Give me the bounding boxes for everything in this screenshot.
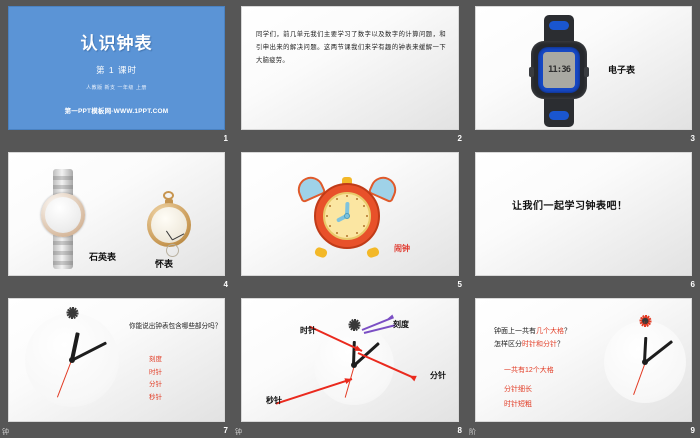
watch-case: 11:36 [531,41,587,99]
watch-button-right [584,67,589,77]
clock-tick-major [363,205,365,207]
band-link [53,176,73,180]
slide-number: 5 [458,280,462,290]
slide-number: 8 [458,426,462,436]
slide-cell-6[interactable]: 让我们一起学习钟表吧！ 6 [467,146,700,292]
slide-cell-2[interactable]: 同学们，前几单元我们主要学习了数字以及数字的计算问题，和引申出来的解决问题。这两… [233,0,467,146]
page-title: 认识钟表 [81,29,153,54]
slide-8[interactable]: 时针 刻度 分针 秒针 [241,298,459,422]
clock-tick-major [329,205,331,207]
minute-hand [166,231,173,241]
watch-band-bottom [53,233,73,269]
slide-cell-1[interactable]: 认识钟表 第 1 课时 人教版 新支 一年级 上册 第一PPT模板网-WWW.1… [0,0,233,146]
clock-hub [344,213,350,219]
slide-number: 9 [691,426,695,436]
q2-part-a: 怎样区分 [494,341,522,348]
subtitle: 第 1 课时 [96,64,137,76]
slide-cell-3[interactable]: 11:36 电子表 3 [467,0,700,146]
band-link [53,185,73,189]
band-link [53,261,73,265]
clock-foot-right [366,246,380,258]
watch-dial [151,207,187,243]
image-label-quartz: 石英表 [89,250,116,263]
alarm-clock-image [297,171,397,263]
slide-number: 4 [224,280,228,290]
clock-tick-major [26,313,73,314]
answer-item: 分针 [149,379,162,392]
clock-tick-major [346,195,348,197]
question-block: 钟面上一共有几个大格？ 怎样区分时针和分针？ [494,325,606,352]
image-label: 电子表 [608,63,635,76]
label-scale: 刻度 [393,319,409,330]
corner-mark: 钟 [235,429,242,437]
watch-dial [45,197,81,233]
q1-highlight: 几个大格 [536,328,564,335]
image-label: 闹钟 [394,243,410,254]
slide-cell-4[interactable]: 石英表 怀表 4 [0,146,233,292]
image-label-pocket: 怀表 [155,257,173,270]
analog-clock [25,313,119,407]
slide-number: 3 [691,134,695,144]
label-second-hand: 秒针 [266,395,282,406]
clock-tick-major [329,225,331,227]
label-hour-hand: 时针 [300,325,316,336]
q1-part-c: ？ [564,328,571,335]
watch-case [41,193,85,237]
slide-number: 2 [458,134,462,144]
answer-count: 一共有12个大格 [504,365,554,375]
hour-hand [172,233,184,240]
clock-body [314,183,380,249]
slide-4[interactable]: 石英表 怀表 [8,152,225,276]
clock-tick-major [366,215,368,217]
slide-thumbnail-grid: 认识钟表 第 1 课时 人教版 新支 一年级 上册 第一PPT模板网-WWW.1… [0,0,700,438]
slide-number: 6 [691,280,695,290]
clock-tick-major [336,232,338,234]
digital-watch-image: 11:36 [528,15,590,127]
clock-tick-major [356,232,358,234]
corner-mark: 钟 [2,429,9,437]
body-paragraph: 同学们，前几单元我们主要学习了数字以及数字的计算问题，和引申出来的解决问题。这两… [256,29,446,68]
slide-7[interactable]: 你能说出钟表包含哪些部分吗？ 刻度 时针 分针 秒针 [8,298,225,422]
answer-minute-hand: 分针细长 [504,384,532,394]
slide-cell-7[interactable]: 你能说出钟表包含哪些部分吗？ 刻度 时针 分针 秒针 7 钟 [0,292,233,438]
headline: 让我们一起学习钟表吧！ [512,197,628,212]
strap-accent [549,21,569,30]
watch-button-left [529,67,534,77]
slide-cell-5[interactable]: 闹钟 5 [233,146,467,292]
question-line-1: 钟面上一共有几个大格？ [494,325,606,338]
q2-highlight: 时针和分针 [522,341,557,348]
slide-cell-8[interactable]: 时针 刻度 分针 秒针 8 钟 [233,292,467,438]
slide-3[interactable]: 11:36 电子表 [475,6,692,130]
quartz-wristwatch-image [39,169,87,269]
slide-number: 7 [224,426,228,436]
slide-cell-9[interactable]: 钟面上一共有几个大格？ 怎样区分时针和分针？ 一共有12个大格 分针细长 时针短… [467,292,700,438]
site-footer: 第一PPT模板网-WWW.1PPT.COM [9,105,224,115]
answer-item: 刻度 [149,354,162,367]
answer-list: 刻度 时针 分针 秒针 [149,354,162,405]
slide-1[interactable]: 认识钟表 第 1 课时 人教版 新支 一年级 上册 第一PPT模板网-WWW.1… [8,6,225,130]
slide-9[interactable]: 钟面上一共有几个大格？ 怎样区分时针和分针？ 一共有12个大格 分针细长 时针短… [475,298,692,422]
clock-tick-major [363,225,365,227]
answer-hour-hand: 时针短粗 [504,399,532,409]
question-line-2: 怎样区分时针和分针？ [494,338,606,351]
analog-clock [604,321,686,403]
slide-5[interactable]: 闹钟 [241,152,459,276]
slide-2[interactable]: 同学们，前几单元我们主要学习了数字以及数字的计算问题，和引申出来的解决问题。这两… [241,6,459,130]
band-link [53,241,73,245]
answer-item: 时针 [149,367,162,380]
slide-number: 1 [224,134,228,144]
answer-item: 秒针 [149,392,162,405]
clock-tick-major [356,198,358,200]
band-link [53,251,73,255]
clock-tick-major [346,235,348,237]
watch-bezel: 11:36 [538,47,580,93]
corner-mark: 阶 [469,429,476,437]
course-meta: 人教版 新支 一年级 上册 [86,84,147,91]
slide-6[interactable]: 让我们一起学习钟表吧！ [475,152,692,276]
question-text: 你能说出钟表包含哪些部分吗？ [129,321,225,333]
q1-part-a: 钟面上一共有 [494,328,536,335]
subdial [166,244,179,257]
watch-case [147,203,191,247]
clock-foot-left [314,246,328,258]
clock-tick-major [326,215,328,217]
clock-tick-major [336,198,338,200]
watch-digits: 11:36 [548,65,570,75]
pocket-watch-image [147,191,191,249]
strap-accent [549,111,569,120]
label-minute-hand: 分针 [430,370,446,381]
q2-part-c: ？ [557,341,564,348]
watch-screen: 11:36 [543,52,575,88]
